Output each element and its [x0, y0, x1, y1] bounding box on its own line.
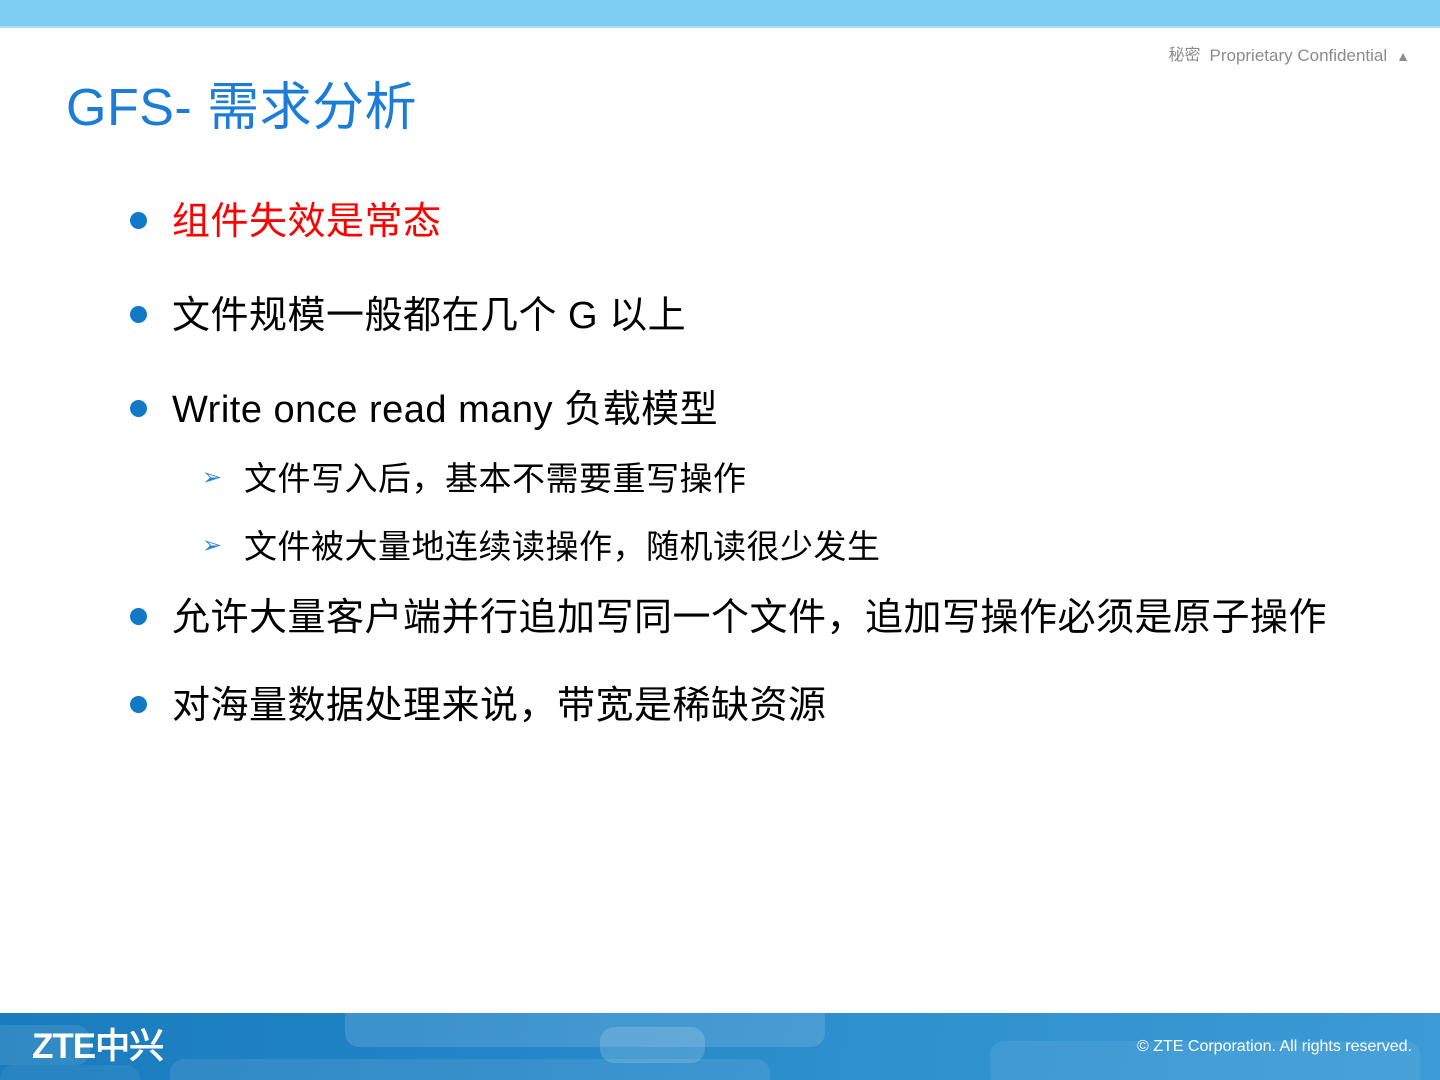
bullet-text: Write once read many 负载模型 — [172, 384, 718, 436]
footer-decoration-shape — [345, 1013, 825, 1047]
page-title: GFS- 需求分析 — [66, 76, 417, 140]
list-item: Write once read many 负载模型 — [130, 384, 1400, 436]
list-item: ➢ 文件写入后，基本不需要重写操作 — [202, 456, 1400, 502]
top-accent-band-edge — [0, 26, 1440, 28]
slide-footer: ZTE中兴 © ZTE Corporation. All rights rese… — [0, 1013, 1440, 1080]
bullet-text: 文件规模一般都在几个 G 以上 — [172, 290, 686, 342]
confidentiality-label-en: Proprietary Confidential — [1209, 46, 1387, 66]
list-item: 允许大量客户端并行追加写同一个文件，追加写操作必须是原子操作 — [130, 592, 1400, 644]
bullet-text: 文件被大量地连续读操作，随机读很少发生 — [244, 524, 881, 570]
list-item: 组件失效是常态 — [130, 196, 1400, 248]
list-item: 文件规模一般都在几个 G 以上 — [130, 290, 1400, 342]
footer-decoration-shape — [600, 1027, 705, 1063]
triangle-up-icon: ▲ — [1396, 46, 1410, 66]
bullet-dot-icon — [130, 400, 147, 417]
arrow-right-icon: ➢ — [202, 532, 228, 560]
footer-decoration-shape — [0, 1065, 140, 1080]
top-accent-band — [0, 0, 1440, 26]
copyright-text: © ZTE Corporation. All rights reserved. — [1137, 1037, 1412, 1057]
slide: 秘密 Proprietary Confidential ▲ GFS- 需求分析 … — [0, 0, 1440, 1080]
confidentiality-label-cn: 秘密 — [1168, 46, 1200, 66]
bullet-dot-icon — [130, 306, 147, 323]
list-item: 对海量数据处理来说，带宽是稀缺资源 — [130, 680, 1400, 732]
bullet-list: 组件失效是常态 文件规模一般都在几个 G 以上 Write once read … — [130, 196, 1400, 762]
confidentiality-marker: 秘密 Proprietary Confidential ▲ — [1168, 46, 1410, 66]
footer-decoration-shape — [170, 1059, 770, 1080]
arrow-right-icon: ➢ — [202, 464, 228, 492]
bullet-dot-icon — [130, 696, 147, 713]
bullet-text: 对海量数据处理来说，带宽是稀缺资源 — [172, 680, 827, 732]
bullet-dot-icon — [130, 608, 147, 625]
sub-bullet-list: ➢ 文件写入后，基本不需要重写操作 ➢ 文件被大量地连续读操作，随机读很少发生 — [130, 456, 1400, 570]
zte-logo: ZTE中兴 — [32, 1027, 163, 1067]
bullet-text: 组件失效是常态 — [172, 196, 442, 248]
bullet-dot-icon — [130, 212, 147, 229]
list-item: ➢ 文件被大量地连续读操作，随机读很少发生 — [202, 524, 1400, 570]
bullet-text: 允许大量客户端并行追加写同一个文件，追加写操作必须是原子操作 — [172, 592, 1327, 644]
bullet-text: 文件写入后，基本不需要重写操作 — [244, 456, 747, 502]
